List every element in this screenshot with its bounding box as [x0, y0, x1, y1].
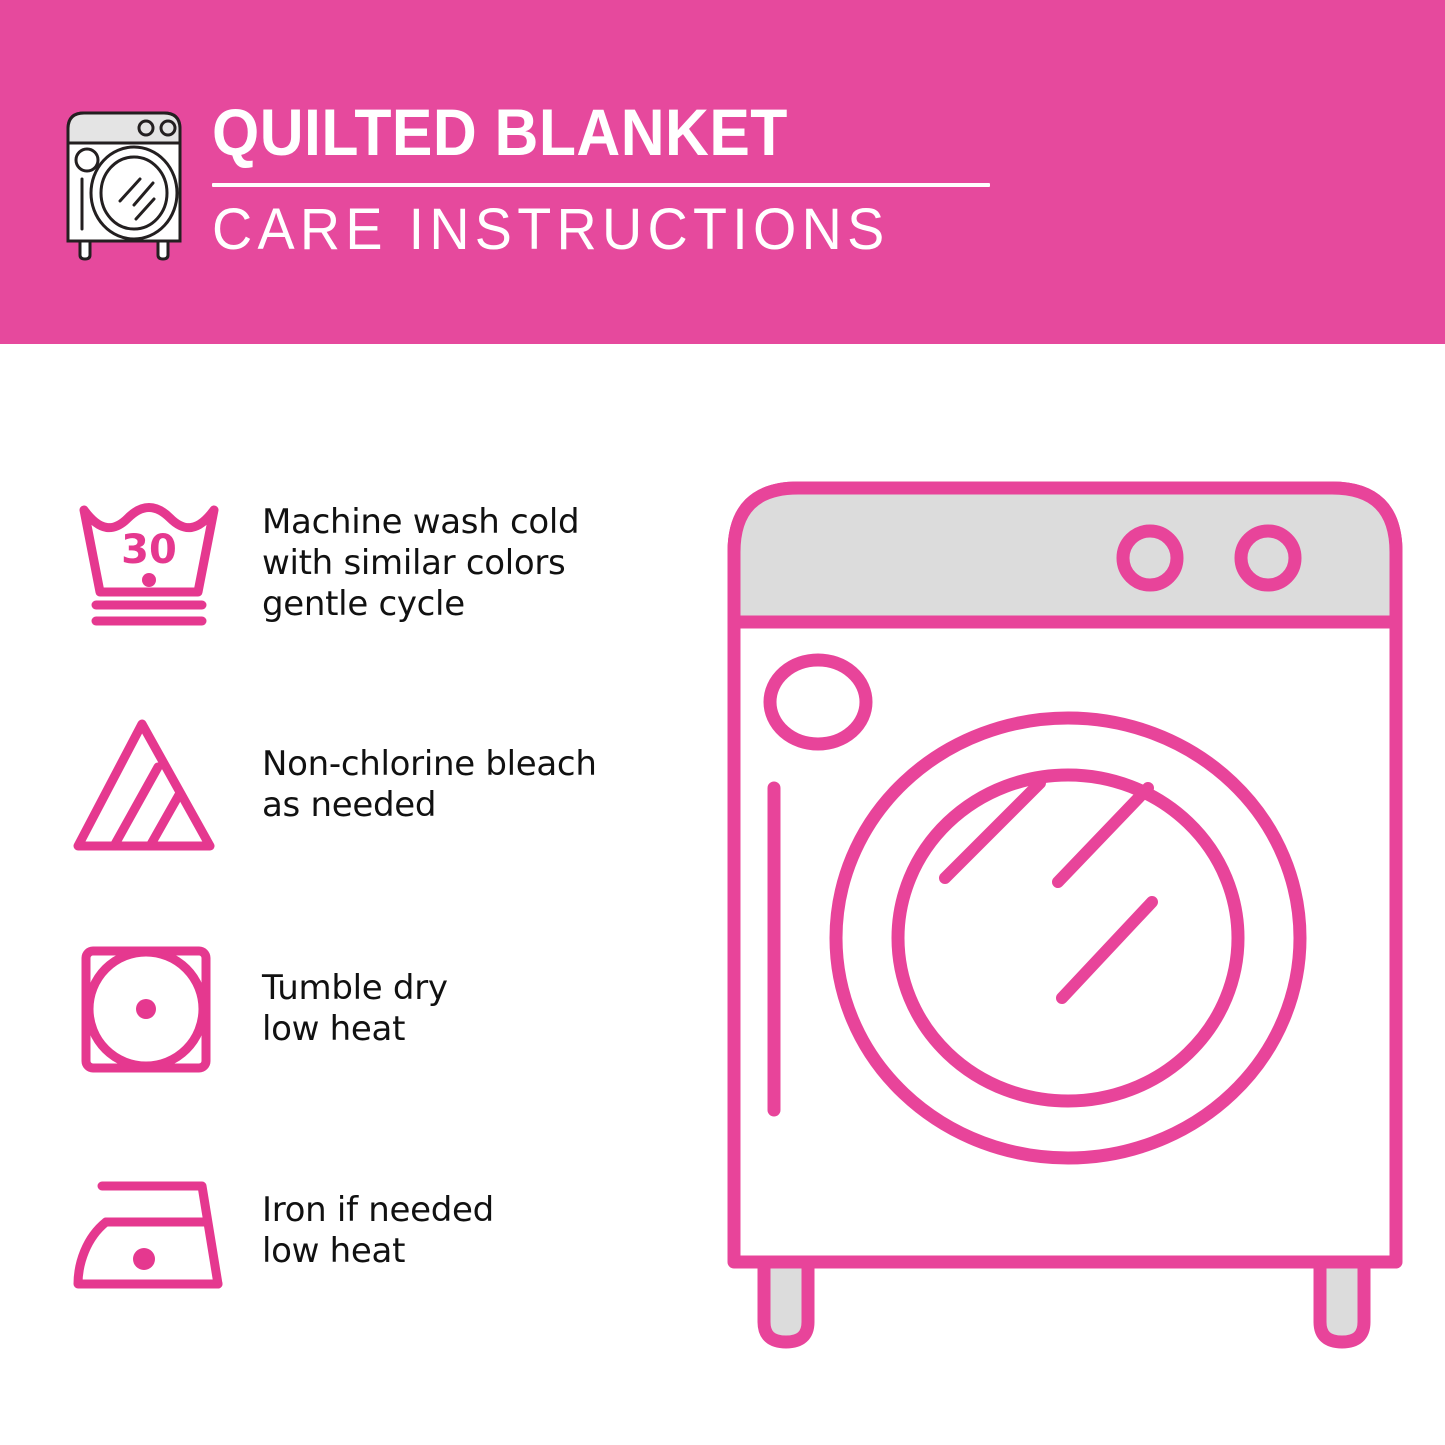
machine-wash-30-delicate-icon: 30 — [70, 488, 240, 638]
washer-knob-2 — [1241, 531, 1295, 585]
washer-foot-right — [1320, 1260, 1364, 1342]
care-row-label: Machine wash cold with similar colors ge… — [262, 502, 579, 625]
care-row-bleach: Non-chlorine bleach as needed — [70, 710, 690, 860]
washer-knob-1 — [1123, 531, 1177, 585]
wash-temperature-label: 30 — [121, 527, 177, 573]
page-title: QUILTED BLANKET — [212, 97, 928, 167]
header-banner: QUILTED BLANKET CARE INSTRUCTIONS — [0, 0, 1445, 344]
washer-indicator-circle — [770, 660, 866, 744]
care-row-machine-wash: 30 Machine wash cold with similar colors… — [70, 488, 690, 638]
washing-machine-icon — [58, 101, 190, 261]
non-chlorine-bleach-icon — [70, 710, 240, 860]
care-row-label: Iron if needed low heat — [262, 1190, 494, 1272]
page-subtitle: CARE INSTRUCTIONS — [212, 199, 959, 261]
front-load-washing-machine-illustration — [720, 470, 1410, 1370]
title-divider — [212, 183, 990, 187]
care-instruction-list: 30 Machine wash cold with similar colors… — [0, 344, 700, 1445]
iron-low-heat-icon — [70, 1156, 240, 1306]
header-text-block: QUILTED BLANKET CARE INSTRUCTIONS — [212, 95, 990, 261]
washer-foot-left — [764, 1260, 808, 1342]
care-row-iron: Iron if needed low heat — [70, 1156, 690, 1306]
care-row-label: Non-chlorine bleach as needed — [262, 744, 597, 826]
care-row-tumble-dry: Tumble dry low heat — [70, 934, 690, 1084]
care-row-label: Tumble dry low heat — [262, 968, 448, 1050]
header-content: QUILTED BLANKET CARE INSTRUCTIONS — [58, 95, 990, 261]
tumble-dry-low-icon — [70, 934, 240, 1084]
